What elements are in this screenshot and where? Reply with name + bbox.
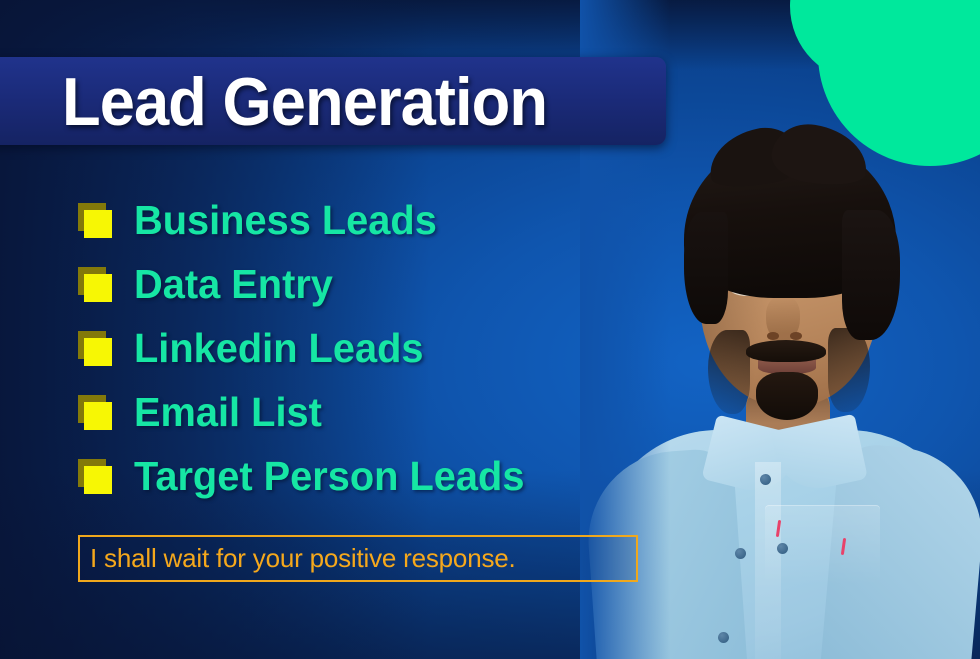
nostril-left [767, 332, 779, 340]
bullet-square [84, 274, 112, 302]
goatee [756, 372, 818, 420]
beard-right [828, 328, 870, 412]
page-title: Lead Generation [62, 58, 639, 146]
list-item: Target Person Leads [78, 444, 678, 508]
lead-generation-banner: Lead Generation Business Leads Data Entr… [0, 0, 980, 659]
shirt-button [735, 548, 746, 559]
bullet-square [84, 338, 112, 366]
yellow-square-bullet-icon [78, 459, 112, 493]
service-label: Target Person Leads [134, 456, 524, 497]
list-item: Data Entry [78, 252, 678, 316]
service-label: Business Leads [134, 200, 437, 241]
yellow-square-bullet-icon [78, 395, 112, 429]
yellow-square-bullet-icon [78, 203, 112, 237]
shirt-button [777, 543, 788, 554]
yellow-square-bullet-icon [78, 331, 112, 365]
closing-note-text: I shall wait for your positive response. [80, 543, 516, 574]
list-item: Linkedin Leads [78, 316, 678, 380]
hair-side-right [842, 210, 900, 340]
shirt-button [760, 474, 771, 485]
beard-left [708, 330, 750, 414]
list-item: Email List [78, 380, 678, 444]
bullet-square [84, 402, 112, 430]
list-item: Business Leads [78, 188, 678, 252]
services-list: Business Leads Data Entry Linkedin Leads… [78, 188, 678, 508]
shirt-button [718, 632, 729, 643]
bullet-square [84, 210, 112, 238]
closing-note-box: I shall wait for your positive response. [78, 535, 638, 582]
service-label: Linkedin Leads [134, 328, 423, 369]
nostril-right [790, 332, 802, 340]
mustache [746, 340, 826, 362]
service-label: Email List [134, 392, 322, 433]
yellow-square-bullet-icon [78, 267, 112, 301]
hair-side-left [684, 212, 728, 324]
service-label: Data Entry [134, 264, 333, 305]
bullet-square [84, 466, 112, 494]
